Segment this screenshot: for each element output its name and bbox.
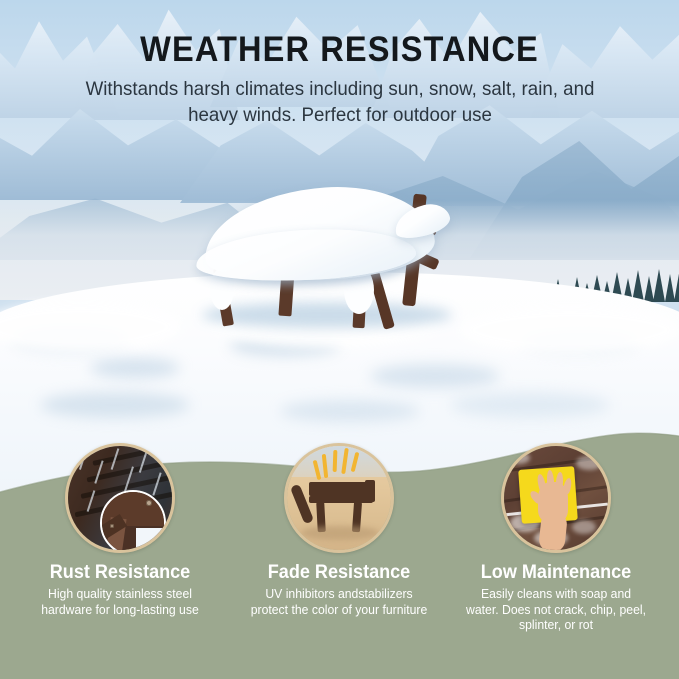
feature-title: Fade Resistance	[238, 561, 439, 584]
hardware-closeup-inset	[100, 490, 166, 553]
page-title: WEATHER RESISTANCE	[24, 0, 655, 70]
feature-title: Low Maintenance	[455, 561, 656, 584]
page-subtitle: Withstands harsh climates including sun,…	[85, 76, 594, 128]
rust-resistance-image	[65, 443, 175, 553]
feature-rust-resistance: Rust Resistance High quality stainless s…	[14, 443, 226, 618]
feature-title: Rust Resistance	[19, 561, 220, 584]
low-maintenance-image	[501, 443, 611, 553]
feature-description: UV inhibitors andstabilizers protect the…	[249, 587, 429, 618]
fade-resistance-image	[284, 443, 394, 553]
weather-resistance-infographic: WEATHER RESISTANCE Withstands harsh clim…	[0, 0, 679, 679]
feature-fade-resistance: Fade Resistance UV inhibitors andstabili…	[233, 443, 445, 618]
feature-description: Easily cleans with soap and water. Does …	[466, 587, 646, 634]
header: WEATHER RESISTANCE Withstands harsh clim…	[0, 0, 679, 128]
snow-covered-bench	[196, 186, 486, 336]
feature-low-maintenance: Low Maintenance Easily cleans with soap …	[450, 443, 662, 634]
feature-description: High quality stainless steel hardware fo…	[30, 587, 210, 618]
